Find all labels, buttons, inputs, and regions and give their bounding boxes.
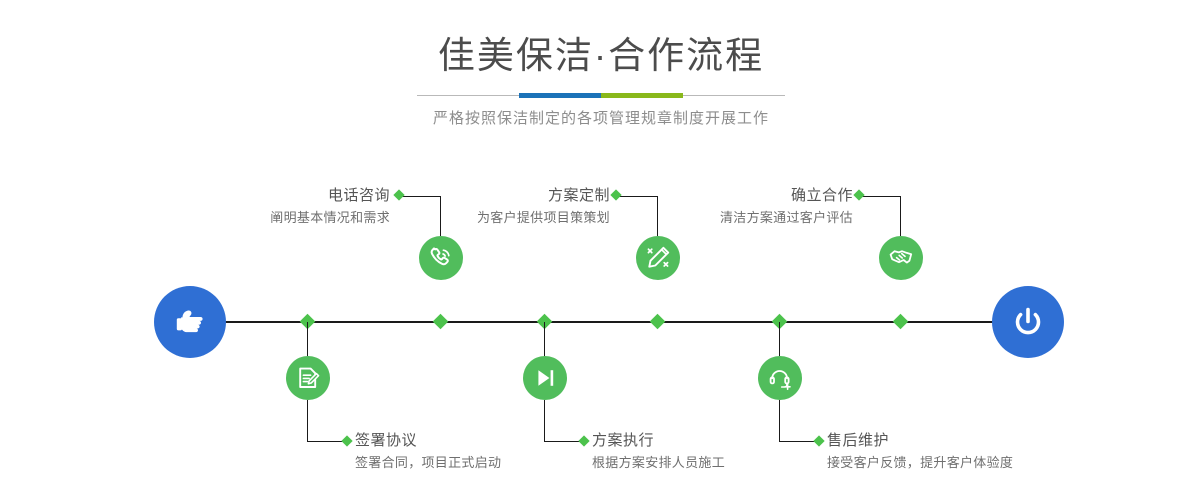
handshake-icon — [888, 245, 914, 271]
thumbs-up-icon — [170, 302, 210, 342]
process-timeline: 电话咨询 阐明基本情况和需求 签署协议 签署合同，项目正式启动 — [0, 0, 1202, 502]
step-desc-phone-consultation: 阐明基本情况和需求 — [150, 208, 390, 228]
step-desc-establish-cooperation: 清洁方案通过客户评估 — [613, 208, 853, 228]
connector-stem-sign-agreement — [307, 322, 308, 356]
step-label-sign-agreement: 签署协议 签署合同，项目正式启动 — [355, 431, 615, 473]
axis-marker-plan-customization — [650, 314, 666, 330]
step-label-establish-cooperation: 确立合作 清洁方案通过客户评估 — [613, 186, 853, 228]
step-desc-plan-execution: 根据方案安排人员施工 — [592, 453, 852, 473]
step-label-phone-consultation: 电话咨询 阐明基本情况和需求 — [150, 186, 390, 228]
pencil-icon — [645, 245, 671, 271]
step-label-after-sales-maintenance: 售后维护 接受客户反馈，提升客户体验度 — [827, 431, 1127, 473]
connector-elbow-v-sign-agreement — [307, 400, 308, 441]
axis-marker-phone-consultation — [433, 314, 449, 330]
step-label-plan-execution: 方案执行 根据方案安排人员施工 — [592, 431, 852, 473]
axis-marker-establish-cooperation — [893, 314, 909, 330]
step-title-plan-customization: 方案定制 — [370, 186, 610, 206]
headset-add-icon — [767, 365, 793, 391]
connector-elbow-h-after-sales-maintenance — [779, 441, 817, 442]
document-edit-icon — [295, 365, 321, 391]
infographic-page: 佳美保洁·合作流程 严格按照保洁制定的各项管理规章制度开展工作 — [0, 0, 1202, 502]
connector-elbow-h-establish-cooperation — [859, 196, 901, 197]
step-desc-after-sales-maintenance: 接受客户反馈，提升客户体验度 — [827, 453, 1127, 473]
step-icon-establish-cooperation[interactable] — [879, 236, 923, 280]
power-icon — [1008, 302, 1048, 342]
step-icon-after-sales-maintenance[interactable] — [758, 356, 802, 400]
connector-elbow-h-plan-execution — [544, 441, 582, 442]
connector-elbow-v-plan-execution — [544, 400, 545, 441]
step-desc-plan-customization: 为客户提供项目策策划 — [370, 208, 610, 228]
step-title-after-sales-maintenance: 售后维护 — [827, 431, 1127, 451]
step-title-establish-cooperation: 确立合作 — [613, 186, 853, 206]
connector-stem-plan-execution — [544, 322, 545, 356]
timeline-end-node — [992, 286, 1064, 358]
connector-elbow-h-sign-agreement — [307, 441, 345, 442]
label-marker-establish-cooperation — [853, 189, 864, 200]
play-skip-icon — [532, 365, 558, 391]
step-icon-plan-customization[interactable] — [636, 236, 680, 280]
connector-stem-after-sales-maintenance — [779, 322, 780, 356]
phone-call-icon — [428, 245, 454, 271]
label-marker-sign-agreement — [341, 435, 352, 446]
connector-elbow-v-after-sales-maintenance — [779, 400, 780, 441]
step-label-plan-customization: 方案定制 为客户提供项目策策划 — [370, 186, 610, 228]
timeline-start-node — [154, 286, 226, 358]
step-title-phone-consultation: 电话咨询 — [150, 186, 390, 206]
step-icon-sign-agreement[interactable] — [286, 356, 330, 400]
connector-stem-establish-cooperation — [900, 196, 901, 236]
step-icon-plan-execution[interactable] — [523, 356, 567, 400]
step-desc-sign-agreement: 签署合同，项目正式启动 — [355, 453, 615, 473]
step-icon-phone-consultation[interactable] — [419, 236, 463, 280]
